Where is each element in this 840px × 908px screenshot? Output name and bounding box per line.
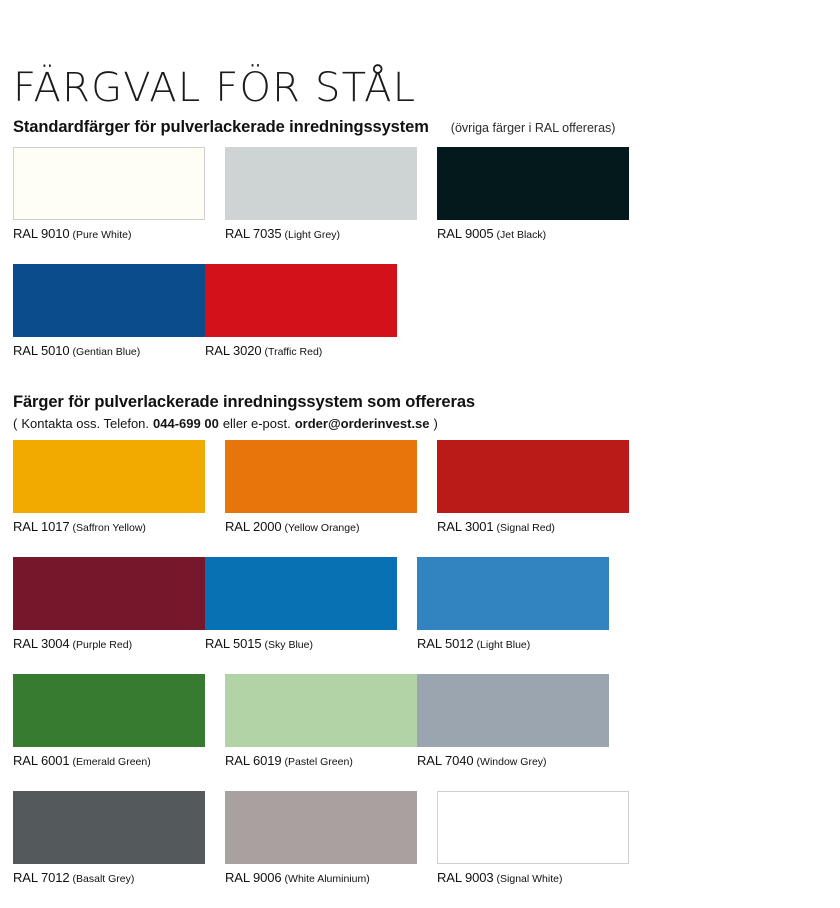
ral-color-name: (White Aluminium)	[285, 873, 370, 885]
color-swatch-chip[interactable]	[437, 147, 629, 220]
ral-code: RAL 2000	[225, 519, 282, 534]
section-one-note: (övriga färger i RAL offereras)	[451, 121, 616, 135]
color-swatch-chip[interactable]	[13, 147, 205, 220]
color-swatch-label: RAL 7040(Window Grey)	[417, 753, 609, 769]
color-swatch-cell[interactable]: RAL 9005(Jet Black)	[437, 147, 629, 242]
page-title: FÄRGVAL FÖR STÅL	[13, 65, 416, 111]
ral-color-name: (Jet Black)	[497, 229, 547, 241]
color-swatch-cell[interactable]: RAL 1017(Saffron Yellow)	[13, 440, 205, 535]
color-swatch-cell[interactable]: RAL 2000(Yellow Orange)	[225, 440, 417, 535]
ral-color-name: (Gentian Blue)	[73, 346, 141, 358]
ral-code: RAL 9003	[437, 870, 494, 885]
color-swatch-chip[interactable]	[437, 440, 629, 513]
color-swatch-label: RAL 3004(Purple Red)	[13, 636, 205, 652]
contact-text-before: Kontakta oss. Telefon.	[21, 416, 149, 431]
color-swatch-cell[interactable]: RAL 5012(Light Blue)	[417, 557, 609, 652]
contact-open-paren: (	[13, 416, 17, 431]
ral-color-name: (Window Grey)	[477, 756, 547, 768]
ral-code: RAL 5010	[13, 343, 70, 358]
ral-code: RAL 7040	[417, 753, 474, 768]
section-two-title: Färger för pulverlackerade inredningssys…	[13, 393, 475, 412]
color-swatch-label: RAL 7035(Light Grey)	[225, 226, 417, 242]
color-swatch-chip[interactable]	[225, 440, 417, 513]
contact-text-middle: eller e-post.	[223, 416, 291, 431]
color-swatch-label: RAL 5012(Light Blue)	[417, 636, 609, 652]
color-swatch-cell[interactable]: RAL 9006(White Aluminium)	[225, 791, 417, 886]
ral-code: RAL 3020	[205, 343, 262, 358]
ral-code: RAL 6001	[13, 753, 70, 768]
color-swatch-label: RAL 3001(Signal Red)	[437, 519, 629, 535]
color-swatch-chip[interactable]	[205, 264, 397, 337]
color-swatch-chip[interactable]	[225, 147, 417, 220]
ral-code: RAL 6019	[225, 753, 282, 768]
section-two-header: Färger för pulverlackerade inredningssys…	[13, 393, 475, 431]
color-swatch-chip[interactable]	[417, 557, 609, 630]
color-swatch-chip[interactable]	[437, 791, 629, 864]
color-swatch-cell[interactable]: RAL 3001(Signal Red)	[437, 440, 629, 535]
color-swatch-label: RAL 9010(Pure White)	[13, 226, 205, 242]
color-swatch-cell[interactable]: RAL 7012(Basalt Grey)	[13, 791, 205, 886]
section-one-header: Standardfärger för pulverlackerade inred…	[13, 118, 615, 137]
ral-color-name: (Light Blue)	[477, 639, 531, 651]
ral-color-name: (Basalt Grey)	[73, 873, 135, 885]
ral-color-name: (Light Grey)	[285, 229, 340, 241]
ral-color-name: (Pure White)	[73, 229, 132, 241]
color-swatch-chip[interactable]	[13, 440, 205, 513]
ral-code: RAL 9010	[13, 226, 70, 241]
color-swatch-label: RAL 9005(Jet Black)	[437, 226, 629, 242]
color-swatch-chip[interactable]	[417, 674, 609, 747]
ral-color-name: (Purple Red)	[73, 639, 133, 651]
color-swatch-chip[interactable]	[13, 557, 205, 630]
ral-code: RAL 7012	[13, 870, 70, 885]
color-swatch-cell[interactable]: RAL 6001(Emerald Green)	[13, 674, 205, 769]
color-swatch-label: RAL 9006(White Aluminium)	[225, 870, 417, 886]
ral-code: RAL 1017	[13, 519, 70, 534]
ral-color-name: (Signal White)	[497, 873, 563, 885]
color-swatch-cell[interactable]: RAL 6019(Pastel Green)	[225, 674, 417, 769]
ral-code: RAL 7035	[225, 226, 282, 241]
color-swatch-cell[interactable]: RAL 5015(Sky Blue)	[205, 557, 397, 652]
color-swatch-label: RAL 7012(Basalt Grey)	[13, 870, 205, 886]
color-swatch-label: RAL 9003(Signal White)	[437, 870, 629, 886]
color-swatch-cell[interactable]: RAL 9010(Pure White)	[13, 147, 205, 242]
color-swatch-cell[interactable]: RAL 3020(Traffic Red)	[205, 264, 397, 359]
ral-color-name: (Sky Blue)	[265, 639, 313, 651]
ral-code: RAL 5015	[205, 636, 262, 651]
ral-code: RAL 5012	[417, 636, 474, 651]
color-swatch-label: RAL 6001(Emerald Green)	[13, 753, 205, 769]
offered-colors-grid: RAL 1017(Saffron Yellow)RAL 2000(Yellow …	[13, 440, 827, 908]
color-swatch-label: RAL 3020(Traffic Red)	[205, 343, 397, 359]
ral-code: RAL 3004	[13, 636, 70, 651]
color-swatch-cell[interactable]: RAL 5010(Gentian Blue)	[13, 264, 205, 359]
standard-colors-grid: RAL 9010(Pure White)RAL 7035(Light Grey)…	[13, 147, 827, 381]
contact-email[interactable]: order@orderinvest.se	[295, 416, 430, 431]
color-swatch-cell[interactable]: RAL 3004(Purple Red)	[13, 557, 205, 652]
contact-line: ( Kontakta oss. Telefon. 044-699 00 elle…	[13, 416, 475, 431]
ral-color-name: (Saffron Yellow)	[73, 522, 146, 534]
section-one-title: Standardfärger för pulverlackerade inred…	[13, 118, 429, 137]
color-swatch-chip[interactable]	[13, 674, 205, 747]
color-swatch-chip[interactable]	[13, 264, 205, 337]
color-swatch-cell[interactable]: RAL 7040(Window Grey)	[417, 674, 609, 769]
color-swatch-label: RAL 2000(Yellow Orange)	[225, 519, 417, 535]
color-swatch-chip[interactable]	[225, 791, 417, 864]
ral-color-name: (Signal Red)	[497, 522, 555, 534]
ral-code: RAL 9006	[225, 870, 282, 885]
color-swatch-chip[interactable]	[225, 674, 417, 747]
color-swatch-chip[interactable]	[205, 557, 397, 630]
color-swatch-label: RAL 1017(Saffron Yellow)	[13, 519, 205, 535]
color-swatch-cell[interactable]: RAL 9003(Signal White)	[437, 791, 629, 886]
contact-close-paren: )	[434, 416, 438, 431]
color-swatch-chip[interactable]	[13, 791, 205, 864]
color-swatch-label: RAL 6019(Pastel Green)	[225, 753, 417, 769]
ral-color-name: (Traffic Red)	[265, 346, 323, 358]
color-swatch-label: RAL 5015(Sky Blue)	[205, 636, 397, 652]
ral-color-name: (Yellow Orange)	[285, 522, 360, 534]
color-swatch-label: RAL 5010(Gentian Blue)	[13, 343, 205, 359]
ral-code: RAL 3001	[437, 519, 494, 534]
color-chart-page: FÄRGVAL FÖR STÅL Standardfärger för pulv…	[0, 0, 840, 840]
ral-code: RAL 9005	[437, 226, 494, 241]
ral-color-name: (Pastel Green)	[285, 756, 353, 768]
color-swatch-cell[interactable]: RAL 7035(Light Grey)	[225, 147, 417, 242]
contact-phone[interactable]: 044-699 00	[153, 416, 219, 431]
ral-color-name: (Emerald Green)	[73, 756, 151, 768]
